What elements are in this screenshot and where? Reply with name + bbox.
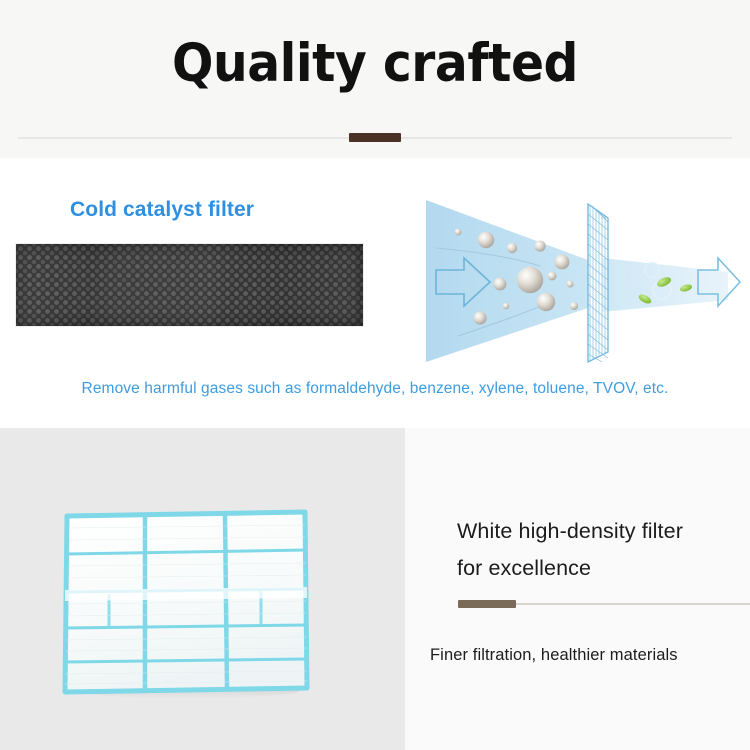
carbon-filter-sheen [16, 244, 363, 326]
white-filter-title-line1: White high-density filter [457, 513, 747, 550]
airflow-filtration-diagram [412, 196, 742, 366]
header-band: Quality crafted [0, 0, 750, 158]
white-high-density-filter-photo [57, 506, 315, 698]
dirty-airflow-stream [426, 200, 588, 362]
filter-mesh-screen [588, 204, 608, 362]
cold-catalyst-section: Cold catalyst filter [0, 158, 750, 428]
black-honeycomb-carbon-filter [15, 243, 364, 327]
white-filter-photo-panel [0, 428, 405, 750]
white-filter-accent-bar [458, 600, 516, 608]
header-accent-bar [349, 133, 401, 142]
white-filter-title-line2: for excellence [457, 550, 747, 587]
page-title: Quality crafted [30, 34, 720, 94]
product-infographic: Quality crafted Cold catalyst filter [0, 0, 750, 750]
cold-catalyst-title: Cold catalyst filter [70, 198, 254, 222]
white-filter-caption: Finer filtration, healthier materials [430, 646, 678, 665]
white-filter-text-panel: White high-density filter for excellence… [405, 428, 750, 750]
filter-mesh-body [65, 512, 307, 692]
white-filter-title: White high-density filter for excellence [457, 513, 747, 587]
cold-catalyst-caption: Remove harmful gases such as formaldehyd… [0, 380, 750, 398]
